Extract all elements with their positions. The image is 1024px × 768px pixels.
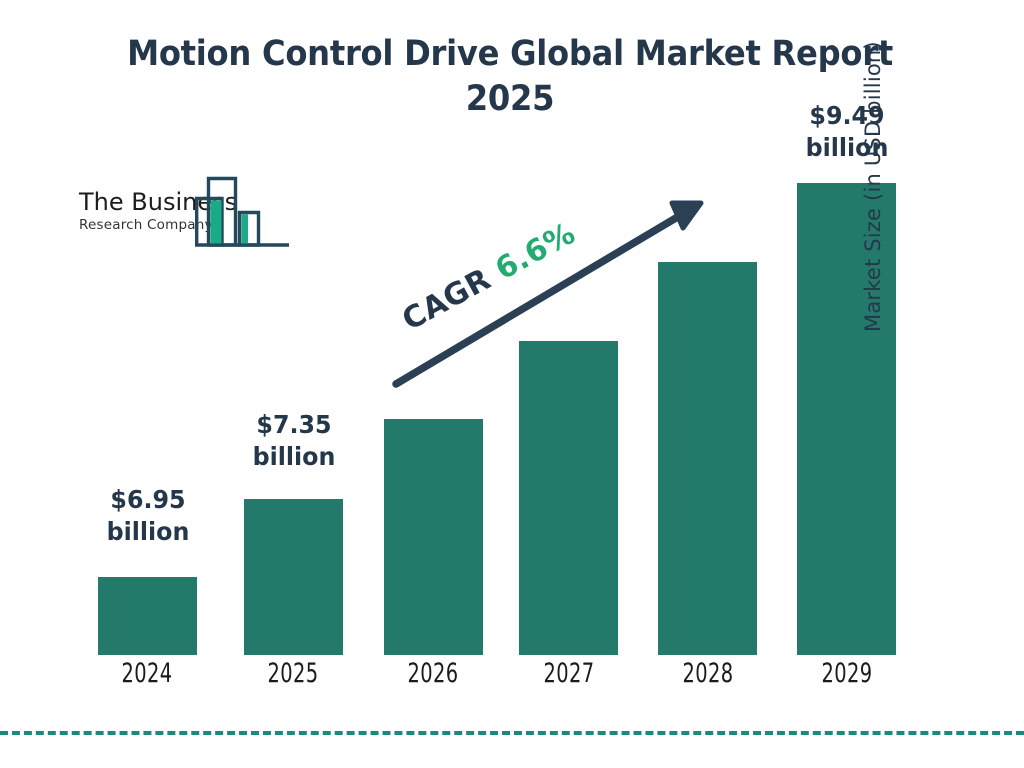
x-tick-2028: 2028 bbox=[654, 658, 762, 689]
value-label-2025-unit: billion bbox=[223, 441, 366, 473]
cagr-value: 6.6% bbox=[490, 216, 582, 287]
bar-2024 bbox=[98, 577, 197, 655]
bar-2025 bbox=[244, 499, 343, 655]
bar-2028 bbox=[658, 262, 757, 655]
x-tick-2025: 2025 bbox=[239, 658, 347, 689]
bar-2026 bbox=[384, 419, 483, 655]
x-tick-2027: 2027 bbox=[515, 658, 623, 689]
y-axis-title: Market Size (in USD billion) bbox=[861, 12, 885, 332]
value-label-2024-amount: $6.95 bbox=[77, 484, 220, 516]
chart-canvas: Motion Control Drive Global Market Repor… bbox=[0, 0, 1024, 768]
value-label-2025-amount: $7.35 bbox=[223, 409, 366, 441]
x-tick-2029: 2029 bbox=[793, 658, 901, 689]
cagr-label: CAGR bbox=[397, 262, 497, 338]
bar-chart-plot: $6.95 billion $7.35 billion $9.49 billio… bbox=[0, 0, 1024, 768]
value-label-2029-unit: billion bbox=[776, 132, 919, 164]
x-tick-2026: 2026 bbox=[379, 658, 487, 689]
value-label-2029: $9.49 billion bbox=[776, 100, 919, 163]
value-label-2024: $6.95 billion bbox=[77, 484, 220, 547]
value-label-2025: $7.35 billion bbox=[223, 409, 366, 472]
value-label-2029-amount: $9.49 bbox=[776, 100, 919, 132]
bar-2027 bbox=[519, 341, 618, 655]
cagr-annotation: CAGR 6.6% bbox=[397, 216, 582, 338]
footer-divider bbox=[0, 731, 1024, 735]
value-label-2024-unit: billion bbox=[77, 516, 220, 548]
x-tick-2024: 2024 bbox=[93, 658, 201, 689]
